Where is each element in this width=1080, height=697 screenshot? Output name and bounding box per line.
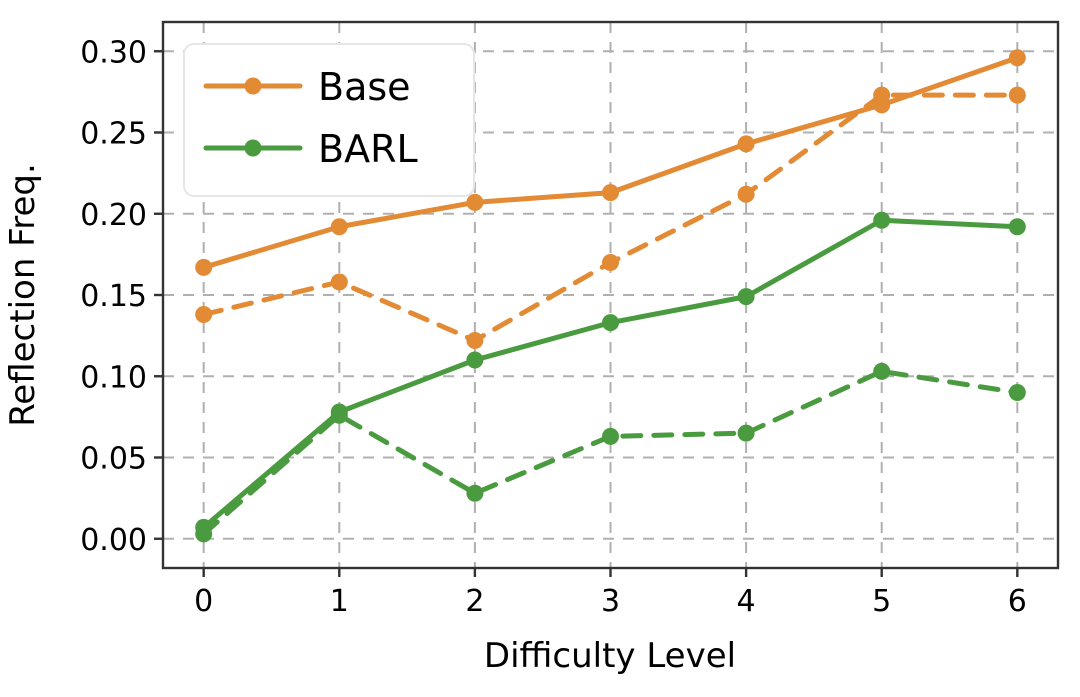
y-tick-label: 0.00	[80, 523, 147, 558]
x-tick-label: 0	[194, 584, 213, 619]
x-tick-label: 5	[872, 584, 891, 619]
data-point	[602, 428, 619, 445]
data-point	[1009, 218, 1026, 235]
legend-swatch-marker	[245, 78, 262, 95]
legend-swatch-marker	[245, 140, 262, 157]
data-point	[331, 274, 348, 291]
data-point	[466, 352, 483, 369]
data-point	[1009, 49, 1026, 66]
x-tick-label: 6	[1008, 584, 1027, 619]
data-point	[602, 184, 619, 201]
data-point	[738, 186, 755, 203]
data-point	[873, 363, 890, 380]
data-point	[1009, 87, 1026, 104]
data-point	[331, 407, 348, 424]
data-point	[738, 288, 755, 305]
data-point	[738, 135, 755, 152]
data-point	[873, 212, 890, 229]
data-point	[1009, 384, 1026, 401]
x-axis-title: Difficulty Level	[484, 636, 736, 676]
data-point	[602, 314, 619, 331]
y-tick-label: 0.30	[80, 35, 147, 70]
chart-legend: BaseBARL	[184, 44, 474, 196]
y-tick-label: 0.15	[80, 279, 147, 314]
y-tick-label: 0.10	[80, 360, 147, 395]
y-axis-title: Reflection Freq.	[3, 163, 43, 427]
reflection-frequency-line-chart: 0.000.050.100.150.200.250.30 0123456 Dif…	[0, 0, 1080, 697]
data-point	[195, 259, 212, 276]
data-point	[331, 218, 348, 235]
data-point	[873, 87, 890, 104]
data-point	[738, 425, 755, 442]
data-point	[466, 485, 483, 502]
data-point	[602, 254, 619, 271]
data-point	[466, 194, 483, 211]
chart-figure: 0.000.050.100.150.200.250.30 0123456 Dif…	[0, 0, 1080, 697]
y-tick-label: 0.20	[80, 198, 147, 233]
data-point	[466, 332, 483, 349]
y-tick-label: 0.05	[80, 442, 147, 477]
legend-label: Base	[318, 65, 411, 109]
x-tick-label: 1	[330, 584, 349, 619]
x-tick-label: 4	[737, 584, 756, 619]
data-point	[195, 525, 212, 542]
y-tick-label: 0.25	[80, 117, 147, 152]
legend-label: BARL	[318, 127, 418, 171]
data-point	[195, 306, 212, 323]
x-tick-label: 3	[601, 584, 620, 619]
x-tick-label: 2	[465, 584, 484, 619]
